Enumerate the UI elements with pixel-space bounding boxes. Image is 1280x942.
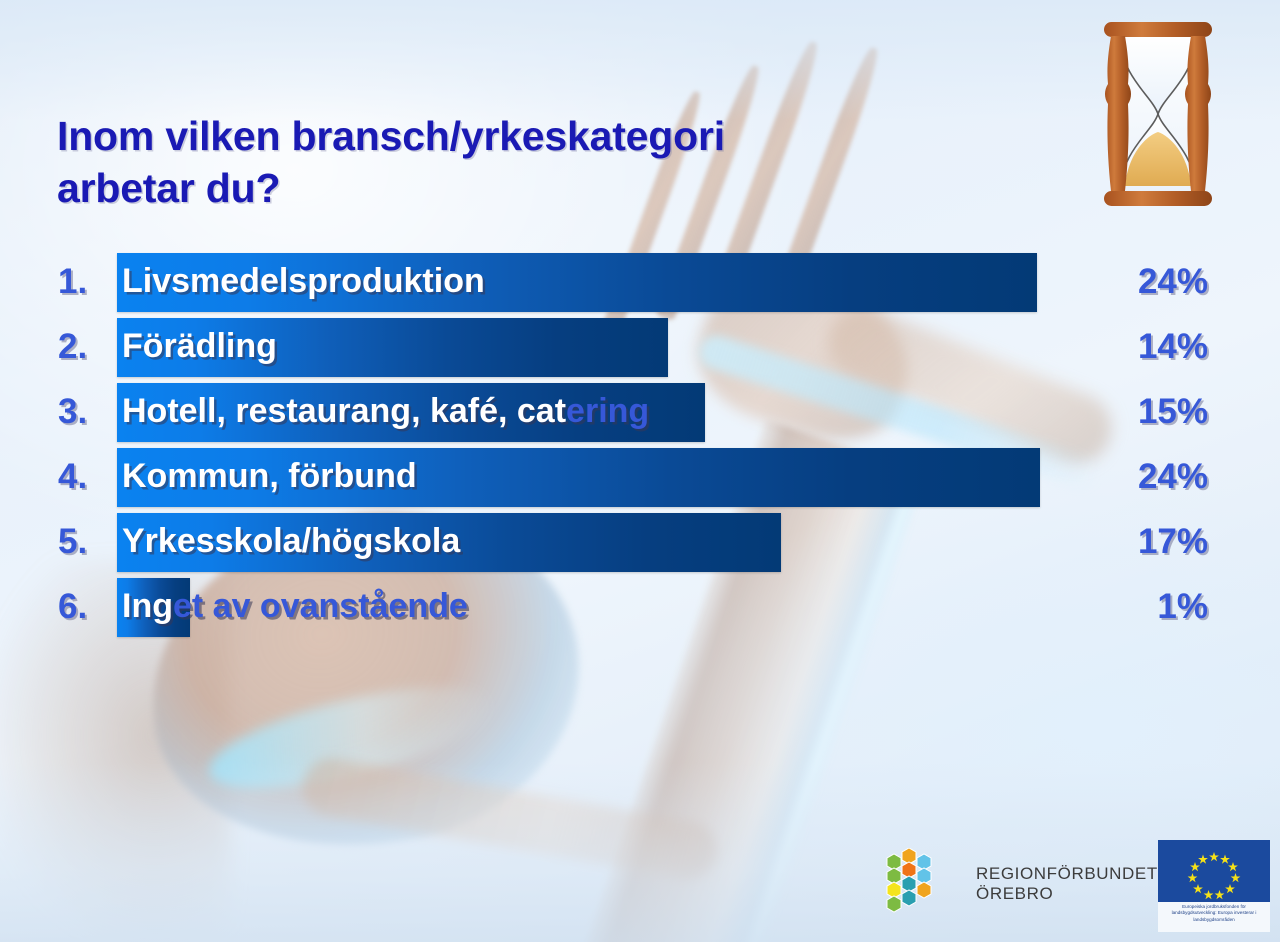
poll-item-label-outside: ering (566, 391, 649, 429)
poll-item-percent: 15% (1138, 392, 1208, 432)
hexagon-cluster-icon (878, 848, 964, 920)
poll-item-label: Inget av ovanstående (122, 586, 468, 625)
slide-title-line2: arbetar du? (57, 165, 280, 211)
poll-item-label-inside: Livsmedelsproduktion (122, 261, 485, 299)
poll-item-number: 3. (58, 392, 106, 432)
poll-item-label-outside: et av ovanstående (173, 586, 468, 624)
slide-title-line1: Inom vilken bransch/yrkeskategori (57, 113, 725, 159)
poll-results-list: 1. Livsmedelsproduktion 24% 2. Förädling… (0, 250, 1280, 640)
slide-title: Inom vilken bransch/yrkeskategori arbeta… (57, 110, 957, 215)
poll-item-label-inside: Kommun, förbund (122, 456, 417, 494)
poll-item-label-inside: Hotell, restaurang, kafé, cat (122, 391, 566, 429)
poll-row[interactable]: 5. Yrkesskola/högskola 17% (0, 510, 1280, 575)
poll-item-number: 4. (58, 457, 106, 497)
poll-item-label: Livsmedelsproduktion (122, 261, 485, 300)
spoon-handle (298, 754, 722, 884)
region-logo-text: REGIONFÖRBUNDET ÖREBRO (976, 864, 1158, 904)
poll-item-label: Yrkesskola/högskola (122, 521, 460, 560)
poll-item-label: Hotell, restaurang, kafé, catering (122, 391, 649, 430)
background-haze-top (0, 0, 1280, 120)
presentation-slide: Inom vilken bransch/yrkeskategori arbeta… (0, 0, 1280, 942)
poll-item-percent: 24% (1138, 457, 1208, 497)
poll-item-number: 6. (58, 587, 106, 627)
regionforbundet-orebro-logo: REGIONFÖRBUNDET ÖREBRO (878, 848, 1148, 920)
poll-row[interactable]: 3. Hotell, restaurang, kafé, catering 15… (0, 380, 1280, 445)
poll-item-label: Förädling (122, 326, 277, 365)
region-logo-line2: ÖREBRO (976, 884, 1158, 904)
poll-item-percent: 24% (1138, 262, 1208, 302)
poll-item-label: Kommun, förbund (122, 456, 417, 495)
poll-row[interactable]: 4. Kommun, förbund 24% (0, 445, 1280, 510)
spoon-highlight (200, 666, 500, 810)
poll-item-number: 1. (58, 262, 106, 302)
poll-row[interactable]: 1. Livsmedelsproduktion 24% (0, 250, 1280, 315)
poll-item-percent: 14% (1138, 327, 1208, 367)
poll-item-number: 2. (58, 327, 106, 367)
eu-funding-caption: Europeiska jordbruksfonden för landsbygd… (1158, 902, 1270, 923)
poll-item-label-inside: Förädling (122, 326, 277, 364)
poll-item-number: 5. (58, 522, 106, 562)
eu-flag-icon (1158, 840, 1270, 902)
hourglass-icon (1094, 14, 1222, 214)
poll-item-label-inside: Ing (122, 586, 173, 624)
poll-row[interactable]: 2. Förädling 14% (0, 315, 1280, 380)
eu-funding-logo: Europeiska jordbruksfonden för landsbygd… (1158, 840, 1270, 932)
poll-item-percent: 1% (1157, 587, 1208, 627)
poll-row[interactable]: 6. Inget av ovanstående 1% (0, 575, 1280, 640)
region-logo-line1: REGIONFÖRBUNDET (976, 864, 1158, 883)
poll-item-percent: 17% (1138, 522, 1208, 562)
poll-item-label-inside: Yrkesskola/högskola (122, 521, 460, 559)
